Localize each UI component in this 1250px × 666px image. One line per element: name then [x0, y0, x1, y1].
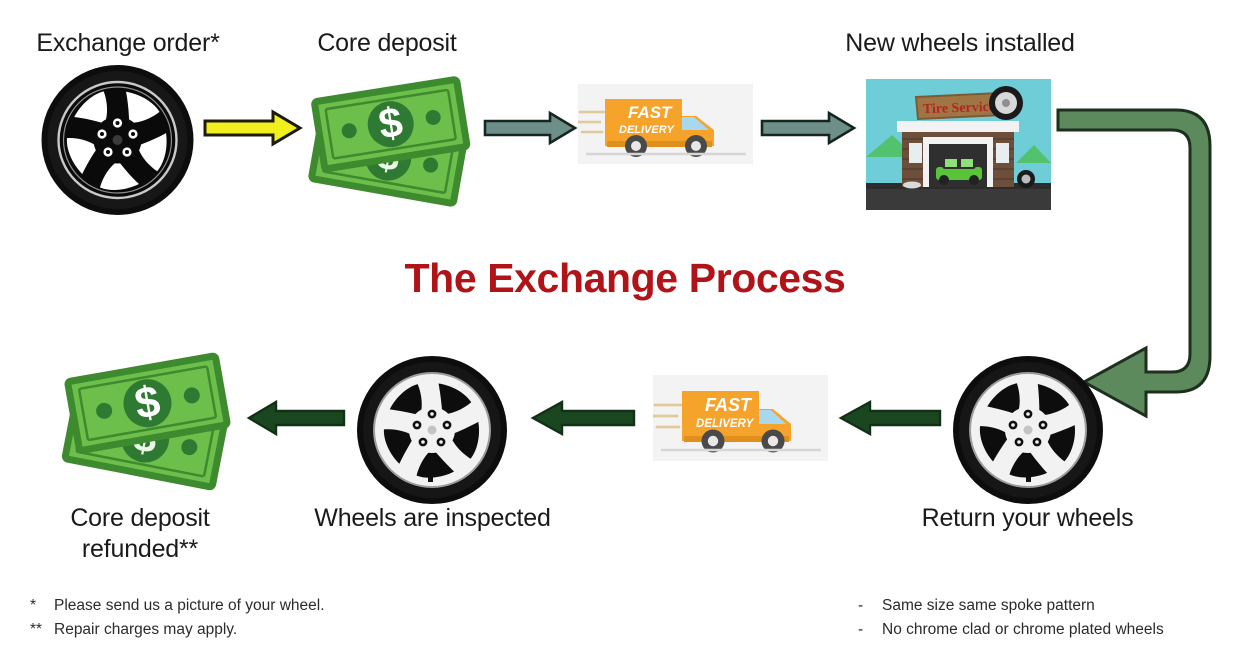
arrow-truck-to-shop	[761, 111, 857, 145]
footnote-text: Repair charges may apply.	[54, 618, 237, 642]
shop-sign-text: Tire Service	[923, 100, 996, 118]
footnote-text: No chrome clad or chrome plated wheels	[882, 618, 1164, 642]
arrow-inspected-to-refund	[246, 400, 346, 436]
footnote-marker: -	[858, 618, 882, 642]
arrow-truck-to-inspected	[530, 400, 636, 436]
shop-sign-tire-icon	[989, 86, 1023, 120]
step-label-return-your-wheels: Return your wheels	[900, 503, 1155, 534]
footnote-left-1: * Please send us a picture of your wheel…	[30, 594, 325, 618]
footnote-right-2: - No chrome clad or chrome plated wheels	[858, 618, 1164, 642]
tire-service-garage-icon: Tire Service	[866, 79, 1051, 210]
step-label-core-deposit-refunded: Core deposit refunded**	[30, 503, 250, 564]
arrow-return-to-truck	[838, 400, 942, 436]
arrow-deposit-to-truck	[484, 111, 578, 145]
footnote-marker: **	[30, 618, 54, 642]
arrow-order-to-deposit	[203, 110, 303, 146]
footnotes-left: * Please send us a picture of your wheel…	[30, 594, 325, 642]
footnote-marker: *	[30, 594, 54, 618]
truck-text-fast: FAST	[628, 103, 673, 122]
step-label-new-wheels-installed: New wheels installed	[810, 28, 1110, 59]
cash-banknotes-icon-top: $ $	[305, 76, 480, 208]
svg-text:DELIVERY: DELIVERY	[696, 418, 755, 430]
refund-label-line2: refunded**	[82, 535, 198, 563]
silver-alloy-wheel-icon-return	[952, 355, 1104, 505]
footnote-marker: -	[858, 594, 882, 618]
step-label-core-deposit: Core deposit	[297, 28, 477, 59]
footnotes-right: - Same size same spoke pattern - No chro…	[858, 594, 1164, 642]
fast-delivery-truck-icon-bottom: FAST DELIVERY	[653, 375, 828, 461]
silver-alloy-wheel-icon-inspected	[356, 355, 508, 505]
footnote-left-2: ** Repair charges may apply.	[30, 618, 325, 642]
footnote-text: Please send us a picture of your wheel.	[54, 594, 325, 618]
step-label-wheels-are-inspected: Wheels are inspected	[300, 503, 565, 534]
shop-sign: Tire Service	[916, 93, 1002, 119]
black-alloy-wheel-icon	[40, 64, 195, 216]
svg-text:FAST: FAST	[705, 395, 753, 415]
exchange-process-diagram: Exchange order* Core deposit New wheels …	[0, 0, 1250, 666]
refund-label-line1: Core deposit	[70, 504, 209, 532]
truck-text-delivery: DELIVERY	[619, 124, 675, 136]
step-label-exchange-order: Exchange order*	[18, 28, 238, 59]
footnote-text: Same size same spoke pattern	[882, 594, 1095, 618]
footnote-right-1: - Same size same spoke pattern	[858, 594, 1164, 618]
fast-delivery-truck-icon-top: FAST DELIVERY	[578, 84, 753, 164]
cash-banknotes-icon-bottom: $ $	[57, 352, 242, 492]
page-title: The Exchange Process	[0, 255, 1250, 302]
